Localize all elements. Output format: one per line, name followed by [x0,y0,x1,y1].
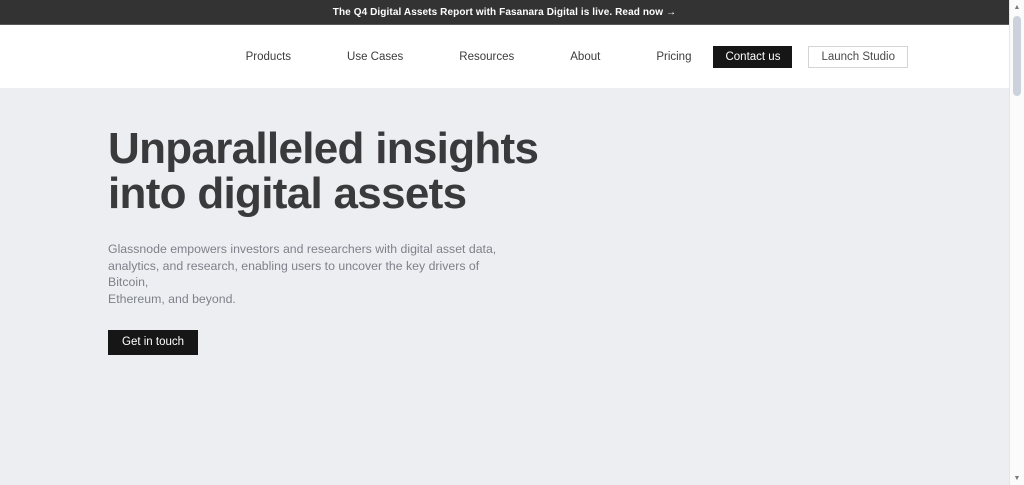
hero-description-line-2: analytics, and research, enabling users … [108,258,498,291]
get-in-touch-button[interactable]: Get in touch [108,330,198,355]
page-scrollbar[interactable]: ▲ ▼ [1009,0,1024,485]
hero-description-line-3: Ethereum, and beyond. [108,291,498,308]
nav-item-products[interactable]: Products [246,51,291,63]
contact-us-button[interactable]: Contact us [713,46,792,68]
page-title: Unparalleled insights into digital asset… [108,126,1009,216]
nav-item-resources[interactable]: Resources [459,51,514,63]
hero-description: Glassnode empowers investors and researc… [108,216,498,307]
primary-navigation: Products Use Cases Resources About Prici… [246,51,692,63]
nav-item-about[interactable]: About [570,51,600,63]
scroll-down-arrow-icon[interactable]: ▼ [1010,471,1024,485]
arrow-right-icon: → [666,7,676,18]
nav-item-use-cases[interactable]: Use Cases [347,51,403,63]
scrollbar-thumb[interactable] [1013,16,1021,96]
launch-studio-button[interactable]: Launch Studio [808,46,908,68]
scroll-up-arrow-icon[interactable]: ▲ [1010,0,1024,14]
announcement-text: The Q4 Digital Assets Report with Fasana… [333,7,677,18]
page-root: The Q4 Digital Assets Report with Fasana… [0,0,1024,485]
page-title-line-1: Unparalleled insights [108,126,1009,171]
site-header: Products Use Cases Resources About Prici… [0,25,1009,88]
browser-viewport: The Q4 Digital Assets Report with Fasana… [0,0,1009,485]
header-actions: Contact us Launch Studio [713,46,908,68]
hero-section: Unparalleled insights into digital asset… [0,88,1009,485]
hero-description-line-1: Glassnode empowers investors and researc… [108,241,498,258]
announcement-banner[interactable]: The Q4 Digital Assets Report with Fasana… [0,0,1009,25]
page-title-line-2: into digital assets [108,171,1009,216]
nav-item-pricing[interactable]: Pricing [656,51,691,63]
announcement-label: The Q4 Digital Assets Report with Fasana… [333,7,663,18]
